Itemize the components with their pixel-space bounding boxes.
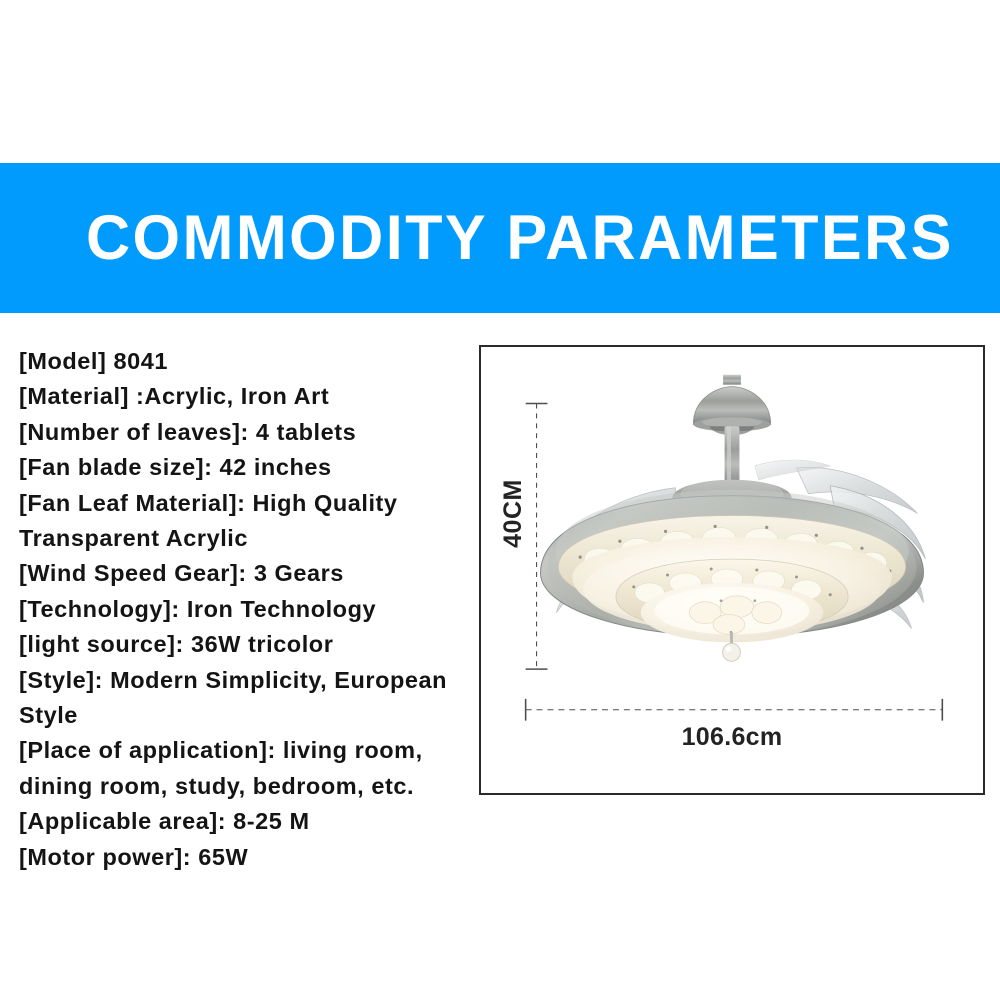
spec-line: Style xyxy=(19,698,471,733)
product-image-panel: 40CM 106.6cm xyxy=(479,345,985,795)
spec-line: [Number of leaves]: 4 tablets xyxy=(19,415,471,450)
product-photo: 40CM 106.6cm xyxy=(481,347,983,793)
dimension-height-label: 40CM xyxy=(499,479,528,548)
spec-line: [Applicable area]: 8-25 M xyxy=(19,804,471,839)
dimension-line-horizontal xyxy=(526,699,943,721)
spec-line: [Place of application]: living room, xyxy=(19,733,471,768)
spec-line: dining room, study, bedroom, etc. xyxy=(19,769,471,804)
spec-line: [Style]: Modern Simplicity, European xyxy=(19,663,471,698)
spec-line: [Fan Leaf Material]: High Quality xyxy=(19,486,471,521)
specification-list: [Model] 8041 [Material] :Acrylic, Iron A… xyxy=(19,344,471,875)
spec-line: [Fan blade size]: 42 inches xyxy=(19,450,471,485)
spec-line: [Model] 8041 xyxy=(19,344,471,379)
dimension-width-label: 106.6cm xyxy=(481,723,983,752)
dimension-line-vertical xyxy=(526,403,548,669)
spec-line: [light source]: 36W tricolor xyxy=(19,627,471,662)
spec-line: [Technology]: Iron Technology xyxy=(19,592,471,627)
page-title: COMMODITY PARAMETERS xyxy=(86,207,954,270)
spec-line: [Wind Speed Gear]: 3 Gears xyxy=(19,556,471,591)
downrod xyxy=(725,426,740,487)
spec-line: [Motor power]: 65W xyxy=(19,840,471,875)
page-header-banner: COMMODITY PARAMETERS xyxy=(0,163,1000,313)
ceiling-canopy xyxy=(693,375,770,435)
spec-line: Transparent Acrylic xyxy=(19,521,471,556)
spec-line: [Material] :Acrylic, Iron Art xyxy=(19,379,471,414)
